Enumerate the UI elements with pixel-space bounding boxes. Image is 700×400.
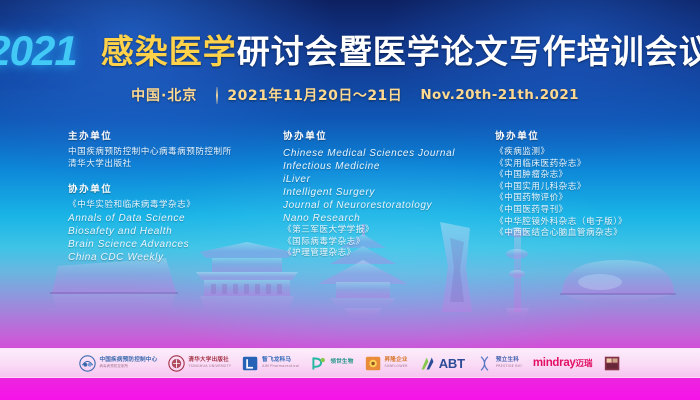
subtitle-divider	[216, 87, 218, 104]
organization-columns: 主办单位 中国疾病预防控制中心病毒病预防控制所 清华大学出版社 协办单位 《中华…	[0, 128, 700, 264]
sponsor-name-line1: 智飞龙科马	[262, 358, 299, 364]
organization-item: Brain Science Advances	[68, 238, 271, 251]
subtitle-date-cn: 2021年11月20日～21日	[227, 85, 406, 105]
pharma-square-icon	[242, 355, 259, 372]
sponsor-name-line1: 预立生科	[496, 358, 522, 364]
sponsor-logo-text: 领世生物	[330, 360, 353, 367]
organization-item: Infectious Medicine	[283, 160, 483, 173]
organization-group: 主办单位 中国疾病预防控制中心病毒病预防控制所 清华大学出版社	[68, 128, 271, 170]
group-heading: 协办单位	[495, 128, 673, 142]
banner-header: 2021 感染医学 研讨会暨医学论文写作培训会议 中国·北京 2021年11月2…	[0, 30, 700, 105]
organization-item: Chinese Medical Sciences Journal	[283, 147, 483, 160]
sponsor-name-line1: 中国疾病预防控制中心	[99, 358, 157, 364]
sponsor-name-line2: AIM Pharmaceutical	[262, 365, 299, 368]
sponsor-name-line2: TSINGHUA UNIVERSITY	[188, 365, 231, 368]
group-heading: 协办单位	[283, 128, 483, 142]
sponsor-logo-text: 清华大学出版社 TSINGHUA UNIVERSITY	[188, 358, 231, 368]
sponsor-logo-text: 智飞龙科马 AIM Pharmaceutical	[262, 358, 299, 368]
group-heading: 主办单位	[68, 128, 271, 142]
organization-item: 《中西医结合心脑血管病杂志》	[495, 228, 673, 240]
title-white-part: 研讨会暨医学论文写作培训会议	[237, 35, 700, 68]
sponsor-logo-strip: 中国疾病预防控制中心 病毒病预防控制所 清华大学出版社 TSINGHUA UNI…	[0, 348, 700, 378]
organization-item: 《护理管理杂志》	[283, 248, 483, 260]
organization-group: 协办单位 《疾病监测》 《实用临床医药杂志》 《中国肿瘤杂志》 《中国实用儿科杂…	[495, 128, 673, 240]
china-cdc-emblem-icon	[79, 355, 96, 372]
sponsor-logo-shenglong: 昇隆企业 SUNFLOWER	[365, 354, 408, 373]
banner-subtitle: 中国·北京 2021年11月20日～21日 Nov.20th-21th.2021	[0, 85, 700, 105]
organization-item: 《中国肿瘤杂志》	[495, 170, 673, 182]
sunflower-icon	[365, 355, 382, 372]
organization-column-1: 主办单位 中国疾病预防控制中心病毒病预防控制所 清华大学出版社 协办单位 《中华…	[62, 128, 277, 264]
landmark-water-cube	[50, 258, 178, 312]
organization-item: Nano Research	[283, 212, 483, 225]
sponsor-logo-mindray: mindray迈瑞	[533, 354, 593, 373]
organization-item: 《国际病毒学杂志》	[283, 237, 483, 249]
organization-group: 协办单位 Chinese Medical Sciences Journal In…	[283, 128, 483, 260]
group-heading: 协办单位	[68, 181, 271, 195]
organization-item: Journal of Neurorestoratology	[283, 199, 483, 212]
sponsor-logo-china-cdc: 中国疾病预防控制中心 病毒病预防控制所	[79, 354, 157, 373]
partner-mark-icon	[604, 355, 621, 372]
sponsor-name-line1: 领世生物	[330, 360, 353, 366]
sponsor-name-line1: mindray	[533, 357, 576, 369]
organization-column-2: 协办单位 Chinese Medical Sciences Journal In…	[277, 128, 489, 264]
organization-item: 《中国药物评价》	[495, 193, 673, 205]
subtitle-date-en: Nov.20th-21th.2021	[406, 87, 579, 103]
organization-item: China CDC Weekly	[68, 251, 271, 264]
conference-banner: 2021 感染医学 研讨会暨医学论文写作培训会议 中国·北京 2021年11月2…	[0, 0, 700, 400]
organization-item: 《中国医药导刊》	[495, 205, 673, 217]
abt-mark-icon	[419, 355, 436, 372]
sponsor-logo-partner	[604, 354, 621, 373]
sponsor-name-line2: PRESTIGE BIO	[496, 365, 522, 368]
sponsor-logo-text: 预立生科 PRESTIGE BIO	[496, 358, 522, 368]
organization-item: 《疾病监测》	[495, 147, 673, 159]
mindray-wordmark: mindray迈瑞	[533, 357, 593, 369]
title-gold-part: 感染医学	[101, 35, 237, 68]
organization-item: 清华大学出版社	[68, 159, 271, 171]
sponsor-name-line2: 病毒病预防控制所	[99, 365, 157, 368]
sponsor-name-line1: 昇隆企业	[385, 358, 408, 364]
organization-item: 《中华腔镜外科杂志（电子版）》	[495, 217, 673, 229]
organization-item: Annals of Data Science	[68, 212, 271, 225]
organization-item: 《第三军医大学学报》	[283, 225, 483, 237]
sponsor-name-line1: ABT	[439, 356, 465, 371]
organization-item: 《中国实用儿科杂志》	[495, 182, 673, 194]
sponsor-logo-text: 中国疾病预防控制中心 病毒病预防控制所	[99, 358, 157, 368]
organization-item: 中国疾病预防控制中心病毒病预防控制所	[68, 147, 271, 159]
sponsor-logo-abt: ABT	[419, 354, 465, 373]
organization-item: Biosafety and Health	[68, 225, 271, 238]
organization-item: 《实用临床医药杂志》	[495, 159, 673, 171]
organization-item: 《中华实验和临床病毒学杂志》	[68, 200, 271, 212]
bio-leaf-icon	[310, 355, 327, 372]
organization-item: iLiver	[283, 173, 483, 186]
year-label: 2021	[0, 30, 89, 72]
sponsor-logo-text: 昇隆企业 SUNFLOWER	[385, 358, 408, 368]
banner-title: 2021 感染医学 研讨会暨医学论文写作培训会议	[0, 30, 700, 72]
landmark-ncpa	[560, 260, 676, 304]
sponsor-logo-zhiyuan-pharma: 智飞龙科马 AIM Pharmaceutical	[242, 354, 299, 373]
sponsor-name-line2: SUNFLOWER	[385, 365, 408, 368]
subtitle-city: 中国·北京	[121, 85, 207, 105]
sponsor-logo-lingshi-bio: 领世生物	[310, 354, 353, 373]
sponsor-logo-prestige-bio: 预立生科 PRESTIGE BIO	[476, 354, 522, 373]
sponsor-name-line1: 清华大学出版社	[188, 358, 231, 364]
organization-column-3: 协办单位 《疾病监测》 《实用临床医药杂志》 《中国肿瘤杂志》 《中国实用儿科杂…	[489, 128, 679, 264]
organization-group: 协办单位 《中华实验和临床病毒学杂志》 Annals of Data Scien…	[68, 181, 271, 264]
dna-helix-icon	[476, 355, 493, 372]
tsinghua-emblem-icon	[168, 355, 185, 372]
sponsor-name-line2: 迈瑞	[576, 358, 593, 368]
organization-item: Intelligent Surgery	[283, 186, 483, 199]
sponsor-logo-tsinghua-press: 清华大学出版社 TSINGHUA UNIVERSITY	[168, 354, 231, 373]
